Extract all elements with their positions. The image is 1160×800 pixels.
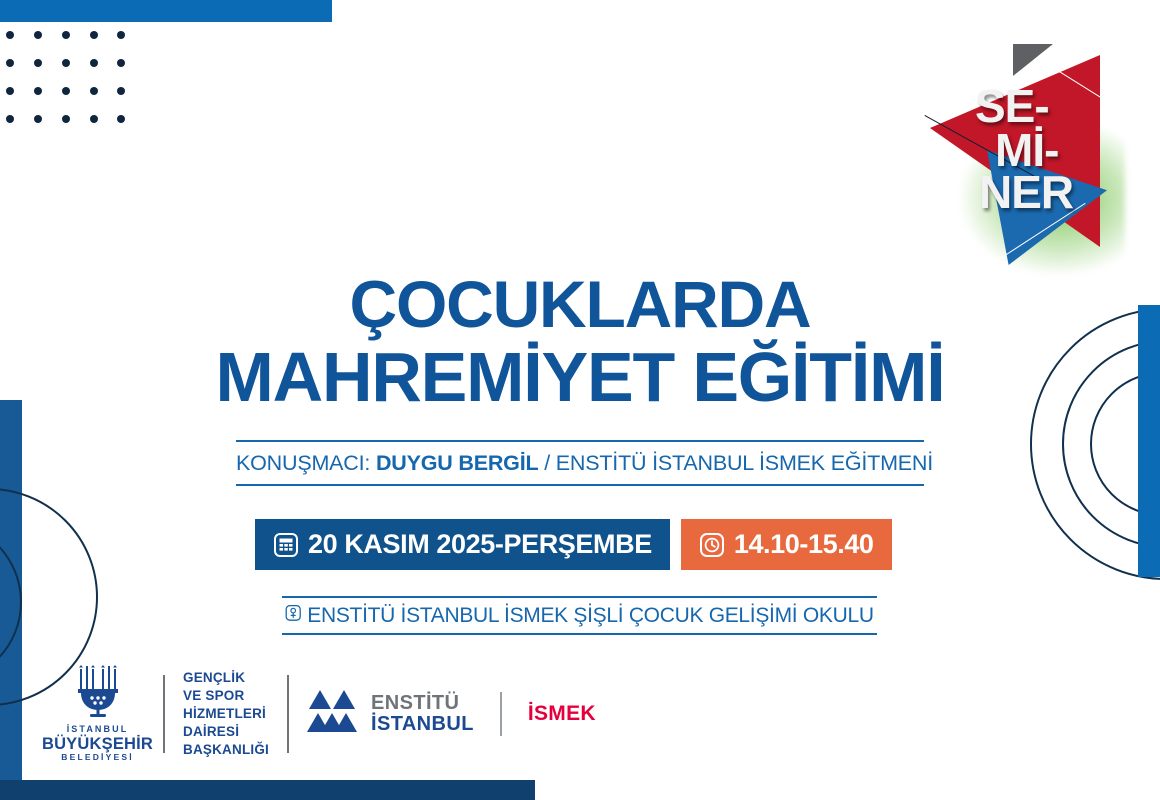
ibb-line-3: BELEDİYESİ [42, 753, 153, 763]
venue-label: ENSTİTÜ İSTANBUL İSMEK ŞİŞLİ ÇOCUK GELİŞ… [307, 604, 873, 628]
title-line-2: MAHREMİYET EĞİTİMİ [0, 340, 1160, 414]
speaker-prefix: KONUŞMACI: [236, 451, 370, 475]
badge-text-line3: NER [979, 169, 1073, 215]
enstitu-triangles-icon [307, 688, 359, 741]
event-badges: 20 KASIM 2025-PERŞEMBE 14.10-15.40 [255, 519, 892, 570]
ibb-wordmark: İSTANBUL BÜYÜKŞEHİR BELEDİYESİ [42, 724, 153, 762]
seminar-poster: SE- Mİ- NER ÇOCUKLARDA MAHREMİYET EĞİTİM… [0, 0, 1160, 800]
ibb-logo: İSTANBUL BÜYÜKŞEHİR BELEDİYESİ [50, 665, 145, 762]
speaker-section: KONUŞMACI: DUYGU BERGİL / ENSTİTÜ İSTANB… [236, 440, 924, 486]
speaker-name: DUYGU BERGİL [376, 451, 538, 475]
department-line-4: DAİRESİ [183, 723, 269, 741]
decorative-dot-grid [0, 27, 125, 125]
seminar-badge: SE- Mİ- NER [925, 35, 1140, 270]
ibb-line-2: BÜYÜKŞEHİR [42, 735, 153, 753]
time-badge: 14.10-15.40 [681, 519, 892, 570]
enstitu-wordmark: ENSTİTÜ İSTANBUL [371, 693, 474, 735]
location-pin-icon [285, 604, 302, 628]
venue-section: ENSTİTÜ İSTANBUL İSMEK ŞİŞLİ ÇOCUK GELİŞ… [282, 596, 877, 635]
enstitu-line-2: İSTANBUL [371, 714, 474, 735]
enstitu-line-1: ENSTİTÜ [371, 693, 474, 714]
speaker-separator: / [544, 451, 550, 475]
speaker-rule-bottom [236, 484, 924, 486]
calendar-icon [273, 532, 299, 558]
clock-icon [699, 532, 725, 558]
footer-divider-1 [163, 675, 165, 753]
date-label: 20 KASIM 2025-PERŞEMBE [308, 529, 652, 560]
decorative-bottom-bar [0, 780, 535, 800]
enstitu-istanbul-logo: ENSTİTÜ İSTANBUL İSMEK [307, 688, 596, 741]
department-line-2: VE SPOR [183, 687, 269, 705]
speaker-line: KONUŞMACI: DUYGU BERGİL / ENSTİTÜ İSTANB… [236, 442, 924, 484]
venue-line: ENSTİTÜ İSTANBUL İSMEK ŞİŞLİ ÇOCUK GELİŞ… [282, 598, 877, 633]
footer-divider-2 [287, 675, 289, 753]
speaker-role: ENSTİTÜ İSTANBUL İSMEK EĞİTMENİ [556, 451, 933, 475]
date-badge: 20 KASIM 2025-PERŞEMBE [255, 519, 670, 570]
venue-rule-bottom [282, 633, 877, 635]
title-line-1: ÇOCUKLARDA [350, 267, 811, 341]
department-line-5: BAŞKANLIĞI [183, 741, 269, 759]
ismek-logo: İSMEK [528, 702, 596, 726]
decorative-top-bar [0, 0, 332, 22]
badge-text: SE- Mİ- NER [925, 35, 1140, 270]
footer-divider-3 [500, 692, 502, 736]
time-label: 14.10-15.40 [734, 529, 874, 560]
department-name: GENÇLİK VE SPOR HİZMETLERİ DAİRESİ BAŞKA… [183, 669, 269, 759]
department-line-3: HİZMETLERİ [183, 705, 269, 723]
badge-text-line1: SE- [975, 83, 1049, 129]
footer-logos: İSTANBUL BÜYÜKŞEHİR BELEDİYESİ GENÇLİK V… [50, 664, 596, 764]
page-title: ÇOCUKLARDA MAHREMİYET EĞİTİMİ [0, 270, 1160, 414]
ibb-emblem-icon [67, 665, 129, 722]
department-line-1: GENÇLİK [183, 669, 269, 687]
ibb-line-1: İSTANBUL [42, 724, 153, 734]
